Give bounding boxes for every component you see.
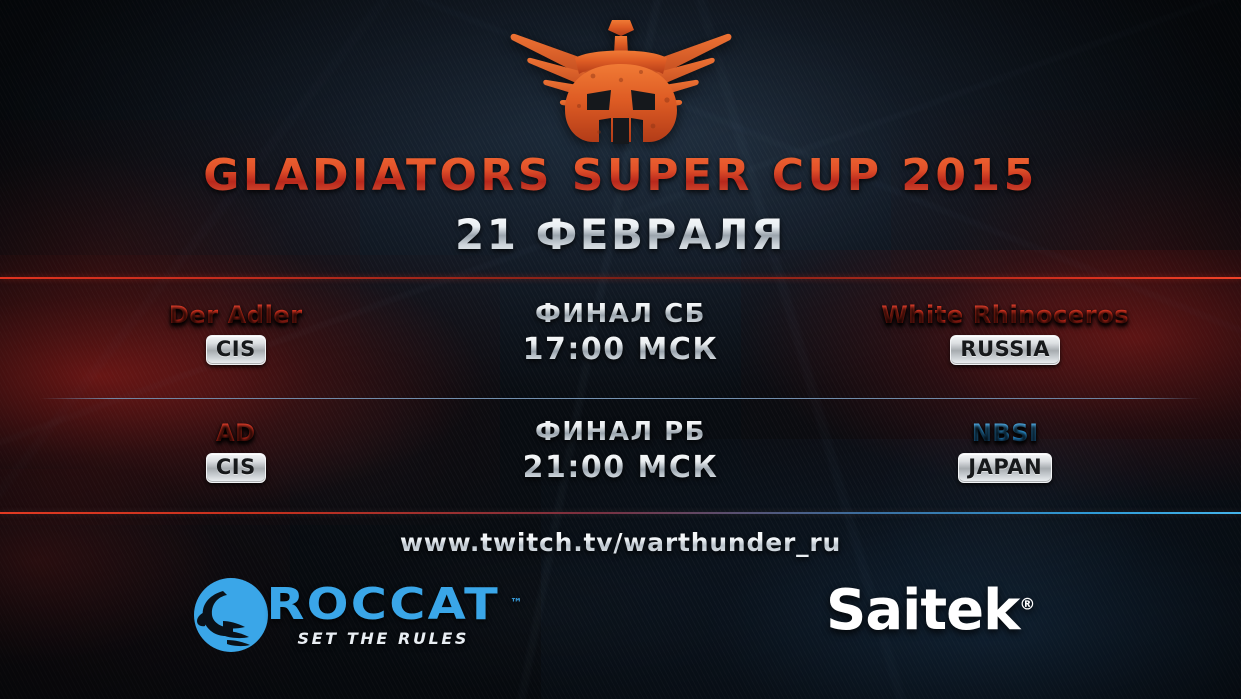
team-name: AD [0, 418, 472, 448]
tournament-poster: GLADIATORS SUPER CUP 2015 21 ФЕВРАЛЯ Der… [0, 0, 1241, 699]
event-date: 21 ФЕВРАЛЯ [0, 210, 1241, 259]
divider-top [0, 277, 1241, 279]
divider-bottom [0, 512, 1241, 514]
trademark-mark-icon: ™ [510, 580, 522, 626]
saitek-wordmark: Saitek [826, 578, 1019, 643]
registered-mark-icon: ® [1019, 594, 1035, 613]
match-left-team: Der Adler CIS [0, 298, 472, 365]
match-left-team: AD CIS [0, 416, 472, 483]
region-badge: CIS [206, 453, 266, 483]
stream-url[interactable]: www.twitch.tv/warthunder_ru [0, 528, 1241, 557]
region-badge: CIS [206, 335, 266, 365]
region-badge: RUSSIA [950, 335, 1060, 365]
match-stage-label: ФИНАЛ РБ [472, 416, 770, 448]
sponsor-saitek: Saitek® [826, 578, 1035, 643]
match-stage-label: ФИНАЛ СБ [472, 298, 770, 330]
team-name: White Rhinoceros [769, 300, 1241, 330]
event-logo [0, 14, 1241, 146]
winged-gladiator-helmet-icon [471, 14, 771, 146]
match-info: ФИНАЛ СБ 17:00 МСК [472, 298, 770, 368]
team-name: NBSI [769, 418, 1241, 448]
match-right-team: White Rhinoceros RUSSIA [769, 298, 1241, 365]
match-info: ФИНАЛ РБ 21:00 МСК [472, 416, 770, 486]
divider-middle [40, 398, 1201, 399]
match-row: AD CIS ФИНАЛ РБ 21:00 МСК NBSI JAPAN [0, 416, 1241, 508]
roccat-tagline: SET THE RULES [298, 629, 470, 648]
sponsor-roccat: ROCCAT™ SET THE RULES [193, 577, 488, 653]
match-right-team: NBSI JAPAN [769, 416, 1241, 483]
match-row: Der Adler CIS ФИНАЛ СБ 17:00 МСК White R… [0, 298, 1241, 390]
event-title: GLADIATORS SUPER CUP 2015 [0, 150, 1241, 201]
match-time: 21:00 МСК [472, 450, 770, 486]
roccat-wordmark: ROCCAT™ [266, 582, 500, 628]
team-name: Der Adler [0, 300, 472, 330]
roccat-cat-head-icon [193, 577, 269, 653]
region-badge: JAPAN [958, 453, 1052, 483]
match-time: 17:00 МСК [472, 332, 770, 368]
